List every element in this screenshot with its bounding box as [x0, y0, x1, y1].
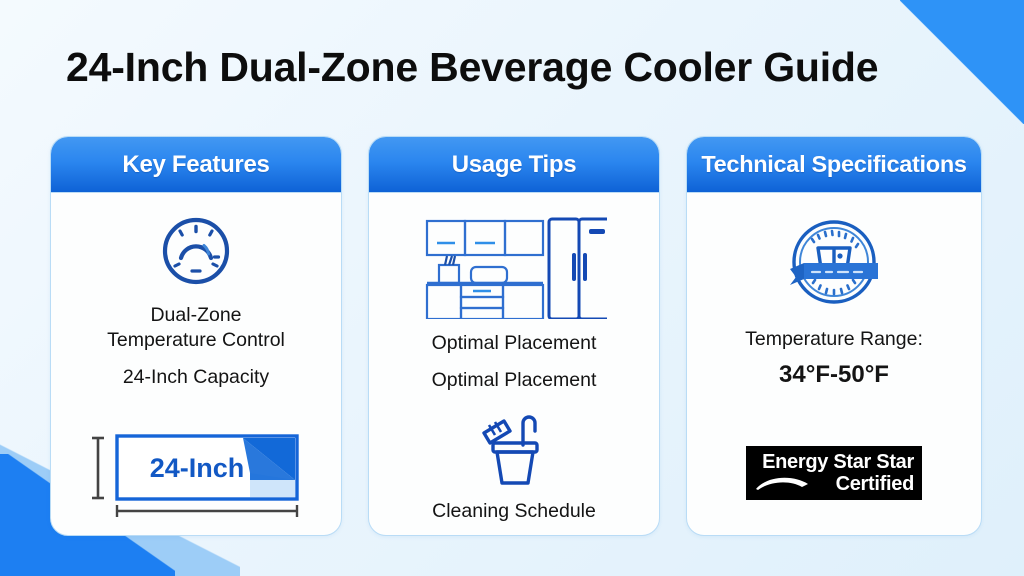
- dimension-label: 24-Inch: [150, 453, 245, 483]
- cleaning-bucket-icon: [471, 409, 557, 487]
- feature-line-2: 24-Inch Capacity: [123, 365, 269, 390]
- card-usage-tips[interactable]: Usage Tips: [368, 136, 660, 536]
- card-key-features[interactable]: Key Features Dual-Zone Temperature Contr: [50, 136, 342, 536]
- spec-value: 34°F-50°F: [779, 362, 889, 387]
- usage-line-1: Optimal Placement: [432, 331, 597, 356]
- card-header-key-features: Key Features: [51, 137, 341, 193]
- energy-star-badge: Energy Star Star Certified: [746, 446, 922, 500]
- usage-line-3: Cleaning Schedule: [432, 499, 596, 524]
- top-right-corner-decoration: [900, 0, 1024, 124]
- energy-star-arc-icon: [754, 473, 810, 496]
- card-header-technical-specifications: Technical Specifications: [687, 137, 981, 193]
- card-body-usage-tips: Optimal Placement Optimal Placement: [369, 193, 659, 536]
- energy-star-badge-line2: Certified: [816, 473, 914, 495]
- card-title-technical-specifications: Technical Specifications: [701, 151, 966, 178]
- dimension-diagram: 24-Inch: [87, 428, 305, 520]
- kitchen-refrigerator-icon: [421, 215, 607, 319]
- card-body-technical-specifications: Temperature Range: 34°F-50°F Energy Star…: [687, 193, 981, 536]
- usage-line-2: Optimal Placement: [432, 368, 597, 393]
- spec-label: Temperature Range:: [745, 327, 923, 352]
- card-technical-specifications[interactable]: Technical Specifications: [686, 136, 982, 536]
- card-body-key-features: Dual-Zone Temperature Control 24-Inch Ca…: [51, 193, 341, 536]
- energy-star-badge-line1: Energy Star Star: [754, 451, 914, 473]
- certification-seal-icon: [782, 217, 886, 315]
- page-title: 24-Inch Dual-Zone Beverage Cooler Guide: [66, 44, 878, 91]
- card-header-usage-tips: Usage Tips: [369, 137, 659, 193]
- temperature-gauge-icon: [158, 213, 234, 289]
- feature-line-1: Dual-Zone Temperature Control: [107, 303, 285, 353]
- card-title-usage-tips: Usage Tips: [452, 151, 577, 179]
- card-title-key-features: Key Features: [122, 151, 269, 179]
